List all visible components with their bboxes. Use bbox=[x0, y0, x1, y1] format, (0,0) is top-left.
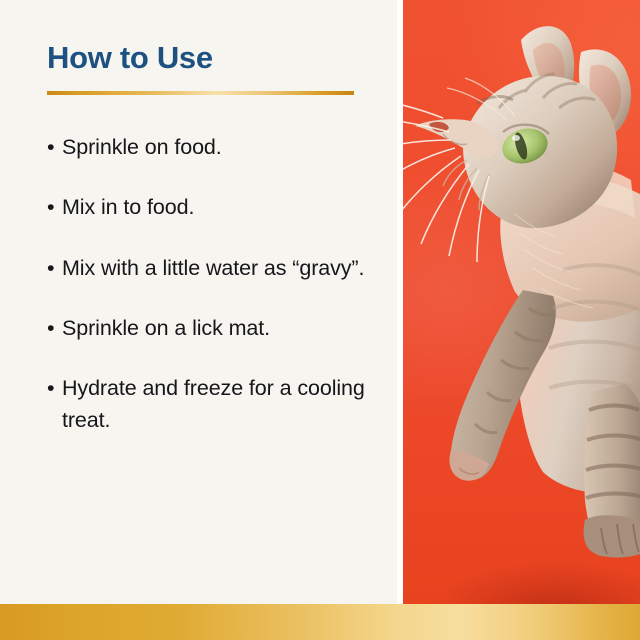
list-item: • Mix with a little water as “gravy”. bbox=[47, 252, 377, 284]
list-item: • Sprinkle on food. bbox=[47, 131, 377, 163]
list-item-text: Hydrate and freeze for a cooling treat. bbox=[62, 376, 365, 432]
bullet-icon: • bbox=[47, 191, 54, 223]
instructions-panel: How to Use • Sprinkle on food. • Mix in … bbox=[0, 0, 397, 605]
list-item-text: Sprinkle on food. bbox=[62, 135, 222, 159]
page-title: How to Use bbox=[47, 41, 213, 75]
list-item-text: Mix in to food. bbox=[62, 195, 194, 219]
list-item: • Hydrate and freeze for a cooling treat… bbox=[47, 372, 377, 437]
bullet-icon: • bbox=[47, 131, 54, 163]
floor-shadow bbox=[403, 541, 640, 605]
cat-photo-panel bbox=[403, 0, 640, 605]
list-item: • Sprinkle on a lick mat. bbox=[47, 312, 377, 344]
bullet-icon: • bbox=[47, 312, 54, 344]
title-divider bbox=[47, 91, 354, 95]
instructions-list: • Sprinkle on food. • Mix in to food. • … bbox=[47, 131, 377, 437]
bullet-icon: • bbox=[47, 372, 54, 404]
list-item: • Mix in to food. bbox=[47, 191, 377, 223]
bottom-gold-bar bbox=[0, 604, 640, 640]
list-item-text: Sprinkle on a lick mat. bbox=[62, 316, 270, 340]
cat-eye-highlight bbox=[512, 135, 520, 141]
cat-illustration bbox=[403, 0, 640, 605]
bullet-icon: • bbox=[47, 252, 54, 284]
list-item-text: Mix with a little water as “gravy”. bbox=[62, 256, 364, 280]
panel-seam bbox=[397, 0, 403, 605]
how-to-use-card: How to Use • Sprinkle on food. • Mix in … bbox=[0, 0, 640, 640]
